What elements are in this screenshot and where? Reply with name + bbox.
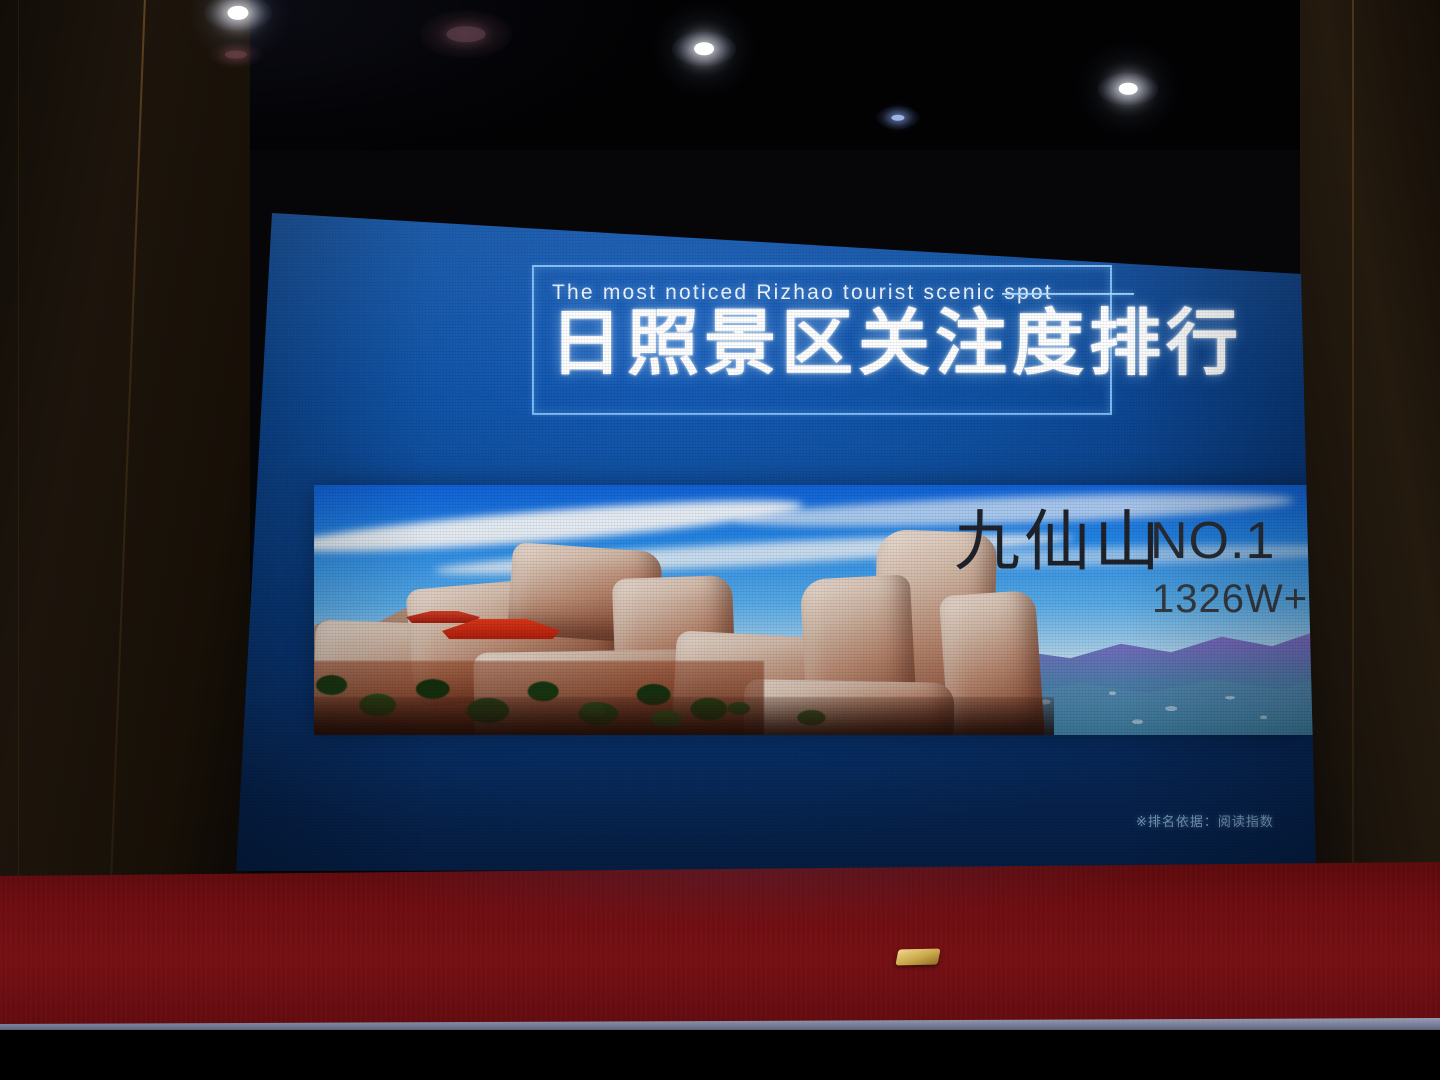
scenic-photo-banner: 九仙山 NO.1 1326W+	[314, 485, 1314, 735]
stage-floor	[0, 862, 1440, 1042]
spotlight-core	[1119, 82, 1138, 95]
stage-apron-shadow	[0, 1030, 1440, 1080]
wall-seam-right	[1352, 0, 1354, 960]
wall-panel-left	[0, 0, 250, 930]
ranking-source-footnote: ※排名依据：阅读指数	[1136, 811, 1274, 830]
ceiling-spotlight	[1098, 73, 1158, 105]
wall-panel-right	[1300, 0, 1440, 960]
ceiling-spotlight	[420, 10, 512, 58]
slide-title-box: The most noticed Rizhao tourist scenic s…	[532, 265, 1112, 415]
auditorium-room: The most noticed Rizhao tourist scenic s…	[0, 0, 1440, 1080]
scenic-name-label: 九仙山	[954, 509, 1164, 575]
metric-value-label: 1326W+	[1152, 579, 1308, 619]
title-divider-rule	[1002, 293, 1134, 295]
stage-light-spill	[240, 862, 1240, 982]
led-screen-surface[interactable]: The most noticed Rizhao tourist scenic s…	[236, 213, 1316, 871]
wall-seam-left	[18, 0, 19, 930]
ceiling-spotlight	[210, 41, 262, 68]
photo-foreground-shadow	[314, 697, 1054, 735]
spotlight-core	[225, 50, 247, 59]
spotlight-core	[891, 114, 904, 121]
ceiling-spotlight	[876, 106, 920, 129]
gold-object-prop	[895, 949, 940, 966]
spotlight-core	[446, 26, 485, 42]
rank-badge-label: NO.1	[1150, 515, 1275, 567]
slide-title-cn: 日照景区关注度排行	[550, 307, 1243, 379]
ceiling-spotlight	[672, 32, 736, 66]
